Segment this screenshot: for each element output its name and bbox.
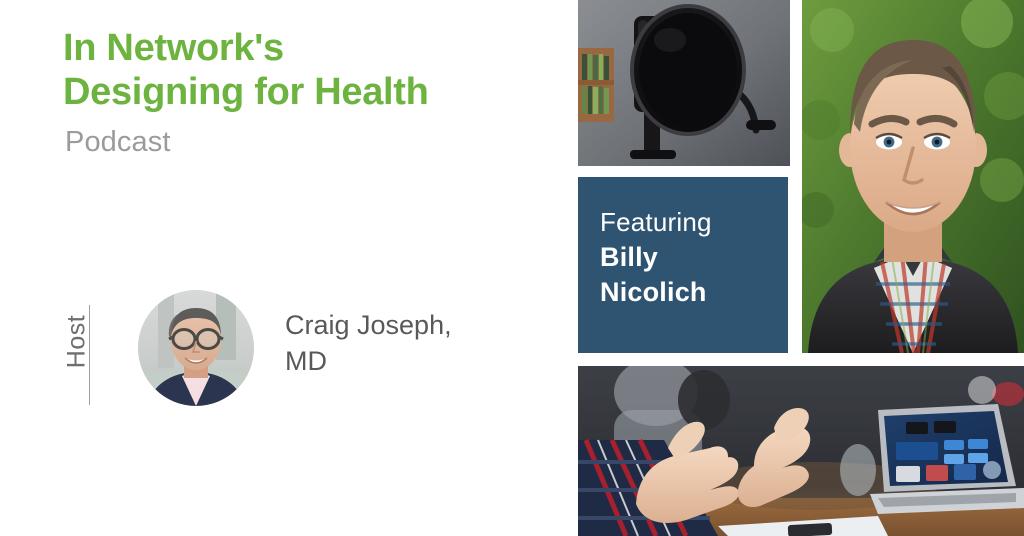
- meeting-photo-image: [578, 366, 1024, 536]
- featuring-inner: Featuring Billy Nicolich: [600, 207, 778, 310]
- page-title: In Network's Designing for Health: [63, 26, 563, 115]
- title-block: In Network's Designing for Health Podcas…: [63, 26, 563, 160]
- left-panel: In Network's Designing for Health Podcas…: [0, 0, 578, 536]
- host-divider: [89, 305, 90, 405]
- guest-photo-image: [802, 0, 1024, 353]
- host-section: Host: [55, 288, 525, 410]
- guest-name: Billy Nicolich: [600, 240, 778, 310]
- microphone-photo-image: [578, 0, 790, 166]
- meeting-photo: [578, 366, 1024, 536]
- host-headshot-image: [138, 290, 254, 406]
- podcast-promo-card: In Network's Designing for Health Podcas…: [0, 0, 1024, 536]
- avatar: [138, 290, 254, 406]
- featuring-block: Featuring Billy Nicolich: [578, 177, 788, 353]
- featuring-label: Featuring: [600, 207, 778, 238]
- host-name: Craig Joseph, MD: [285, 308, 515, 380]
- host-label: Host: [65, 307, 90, 377]
- show-subtitle: Podcast: [65, 125, 563, 160]
- microphone-photo: [578, 0, 790, 166]
- guest-photo: [802, 0, 1024, 353]
